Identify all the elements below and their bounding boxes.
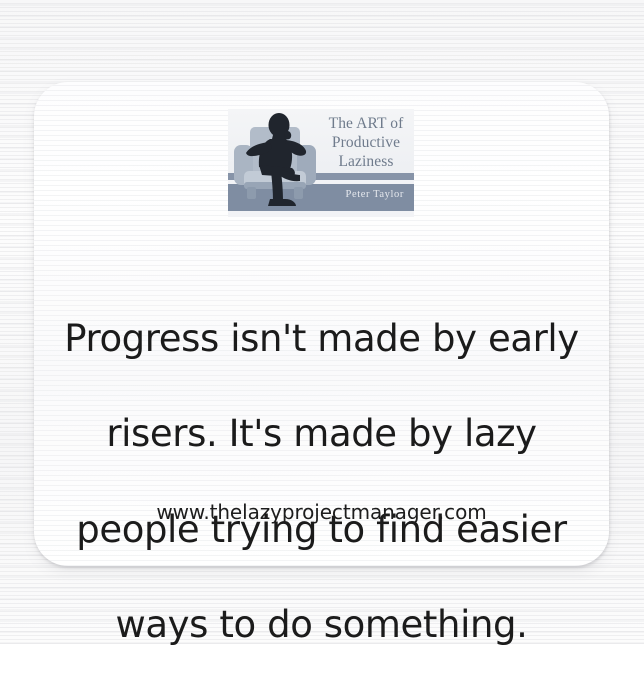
product-photo-backdrop: The ART of Productive Laziness Peter Tay… [0, 0, 644, 644]
logo-title-line-1: The ART of [320, 115, 412, 134]
quote-text: Progress isn't made by early risers. It'… [52, 267, 591, 696]
logo-title-line-3: Laziness [320, 153, 412, 172]
logo-wordmark: The ART of Productive Laziness [320, 115, 412, 172]
quote-line-4: ways to do something. [52, 601, 591, 649]
logo-title-line-2: Productive [320, 134, 412, 153]
quote-line-1: Progress isn't made by early [52, 315, 591, 363]
logo-author-name: Peter Taylor [346, 189, 404, 200]
seated-man-silhouette-icon [246, 113, 322, 211]
logo-band-bottom-edge [228, 211, 414, 217]
website-url: www.thelazyprojectmanager.com [34, 500, 609, 524]
lazy-project-manager-logo: The ART of Productive Laziness Peter Tay… [228, 109, 414, 217]
mousepad-product: The ART of Productive Laziness Peter Tay… [34, 82, 609, 566]
quote-line-2: risers. It's made by lazy [52, 410, 591, 458]
